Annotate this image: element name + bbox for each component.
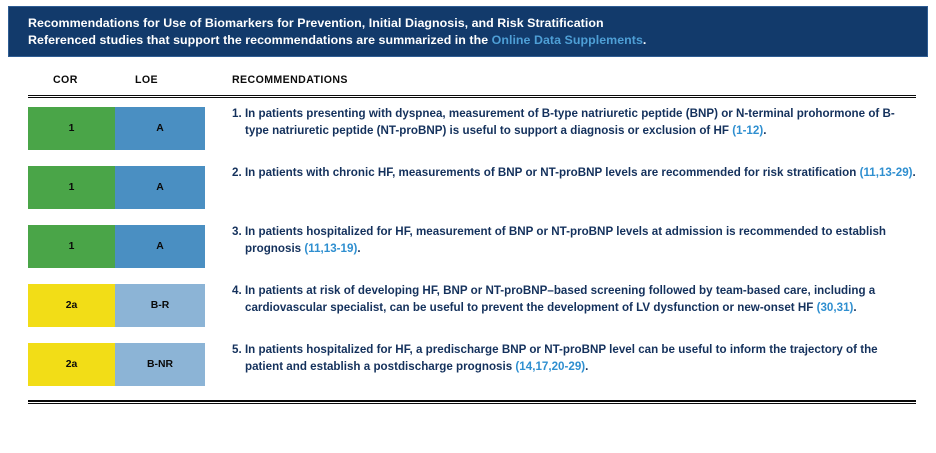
column-header-recommendations: RECOMMENDATIONS <box>232 74 348 86</box>
loe-badge: A <box>115 225 205 268</box>
recommendation-number: 3. <box>232 225 242 238</box>
cor-badge: 1 <box>28 166 115 209</box>
loe-badge: A <box>115 107 205 150</box>
classification-badges: 1 A <box>28 107 205 150</box>
cor-badge: 2a <box>28 343 115 386</box>
recommendation-number: 4. <box>232 284 242 297</box>
loe-badge: B-NR <box>115 343 205 386</box>
citation-link[interactable]: (11,13-19) <box>304 242 357 255</box>
banner-subtitle-suffix: . <box>643 33 647 47</box>
recommendation-text: 4. In patients at risk of developing HF,… <box>205 282 916 317</box>
recommendation-text: 5. In patients hospitalized for HF, a pr… <box>205 341 916 376</box>
citation-link[interactable]: (1-12) <box>732 124 763 137</box>
table-header-row: COR LOE RECOMMENDATIONS <box>28 72 916 94</box>
table-row: 1 A 3. In patients hospitalized for HF, … <box>28 223 916 268</box>
table-row: 2a B-R 4. In patients at risk of develop… <box>28 282 916 327</box>
recommendation-text: 1. In patients presenting with dyspnea, … <box>205 105 916 140</box>
cor-badge: 1 <box>28 107 115 150</box>
table-body: 1 A 1. In patients presenting with dyspn… <box>28 98 916 386</box>
recommendation-period: . <box>913 166 916 179</box>
citation-link[interactable]: (30,31) <box>817 301 854 314</box>
table-header-banner: Recommendations for Use of Biomarkers fo… <box>8 6 928 57</box>
recommendation-period: . <box>763 124 766 137</box>
table-row: 1 A 2. In patients with chronic HF, meas… <box>28 164 916 209</box>
citation-link[interactable]: (11,13-29) <box>860 166 913 179</box>
column-header-cor: COR <box>53 74 78 86</box>
classification-badges: 2a B-NR <box>28 343 205 386</box>
table-bottom-rule <box>28 400 916 404</box>
citation-link[interactable]: (14,17,20-29) <box>515 360 585 373</box>
recommendation-period: . <box>853 301 856 314</box>
guideline-table-figure: Recommendations for Use of Biomarkers fo… <box>0 0 936 453</box>
online-data-supplements-link[interactable]: Online Data Supplements <box>492 33 643 47</box>
cor-badge: 1 <box>28 225 115 268</box>
column-header-loe: LOE <box>135 74 158 86</box>
banner-title-line: Recommendations for Use of Biomarkers fo… <box>28 15 927 32</box>
table-row: 1 A 1. In patients presenting with dyspn… <box>28 105 916 150</box>
recommendation-statement: In patients at risk of developing HF, BN… <box>245 284 875 314</box>
recommendation-period: . <box>585 360 588 373</box>
recommendation-text: 2. In patients with chronic HF, measurem… <box>205 164 916 181</box>
recommendation-statement: In patients presenting with dyspnea, mea… <box>245 107 895 137</box>
loe-badge: A <box>115 166 205 209</box>
classification-badges: 1 A <box>28 225 205 268</box>
recommendation-number: 1. <box>232 107 242 120</box>
recommendation-period: . <box>357 242 360 255</box>
recommendation-number: 5. <box>232 343 242 356</box>
classification-badges: 2a B-R <box>28 284 205 327</box>
recommendation-statement: In patients with chronic HF, measurement… <box>245 166 860 179</box>
table-row: 2a B-NR 5. In patients hospitalized for … <box>28 341 916 386</box>
recommendation-text: 3. In patients hospitalized for HF, meas… <box>205 223 916 258</box>
recommendation-number: 2. <box>232 166 242 179</box>
classification-badges: 1 A <box>28 166 205 209</box>
cor-badge: 2a <box>28 284 115 327</box>
loe-badge: B-R <box>115 284 205 327</box>
banner-subtitle-line: Referenced studies that support the reco… <box>28 32 927 49</box>
banner-subtitle-prefix: Referenced studies that support the reco… <box>28 33 492 47</box>
recommendations-table: COR LOE RECOMMENDATIONS 1 A 1. In patien… <box>28 72 916 404</box>
